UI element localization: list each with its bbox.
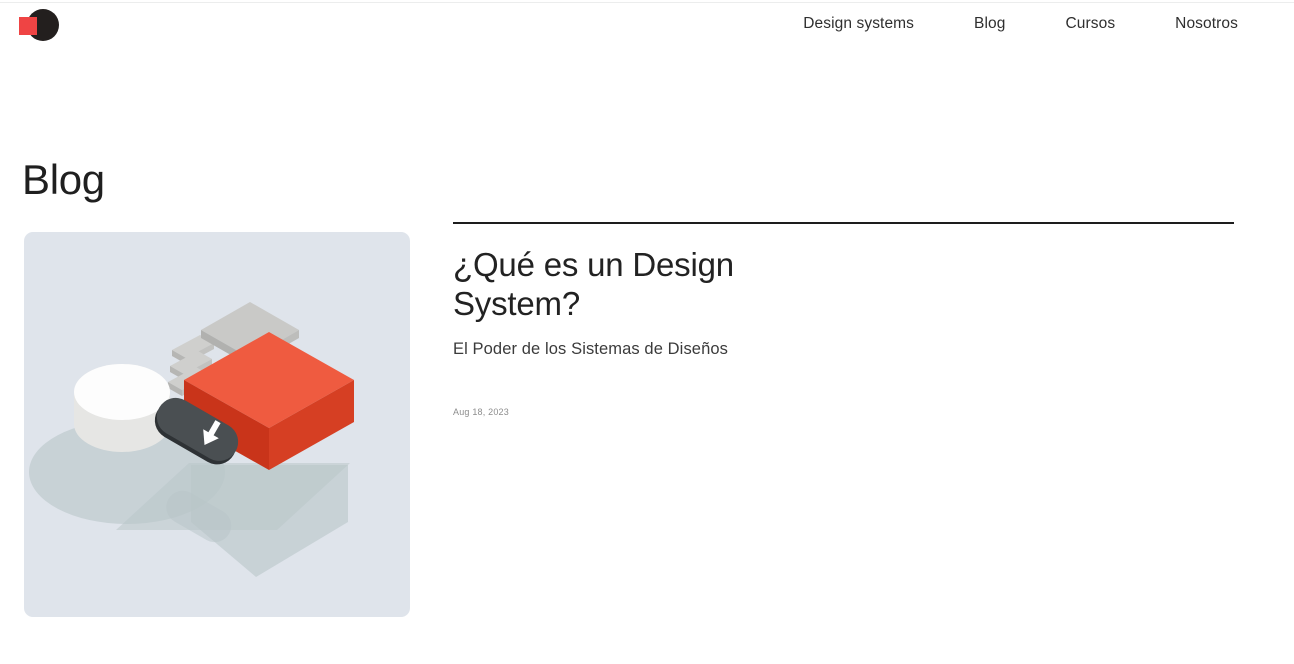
post-list: ¿Qué es un Design System? El Poder de lo… — [0, 0, 1294, 664]
post-title[interactable]: ¿Qué es un Design System? — [453, 246, 803, 324]
post-content: ¿Qué es un Design System? El Poder de lo… — [453, 222, 1234, 417]
isometric-illustration-icon — [24, 232, 410, 617]
post-divider — [453, 222, 1234, 224]
post-thumbnail[interactable] — [24, 232, 410, 617]
post-date: Aug 18, 2023 — [453, 407, 1234, 417]
post-subtitle: El Poder de los Sistemas de Diseños — [453, 340, 1234, 359]
